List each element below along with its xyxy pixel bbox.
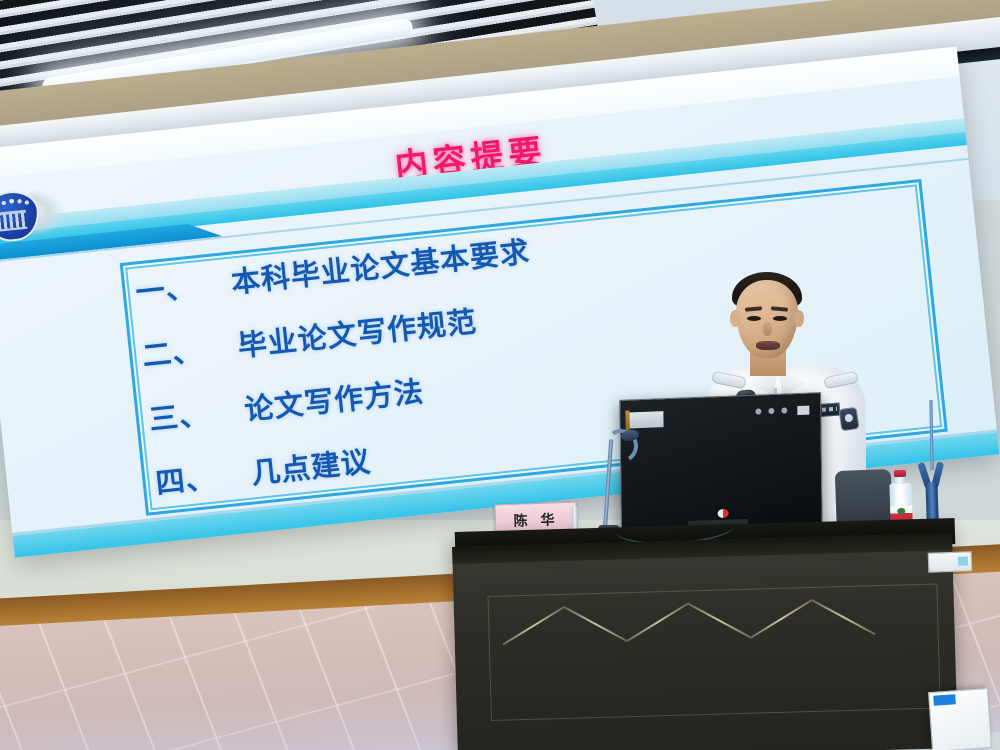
presenter-eye-left (747, 316, 761, 321)
list-item-number: 三、 (147, 387, 247, 439)
podium-chevron-inlay (502, 594, 904, 665)
name-plate-label: 陈 华 (513, 509, 559, 531)
list-item-number: 二、 (140, 323, 240, 375)
presenter-mouth (756, 341, 780, 350)
presenter-ear-left (730, 310, 740, 327)
document-tab (933, 694, 956, 706)
document-sheet (928, 688, 992, 750)
chevron-segment (563, 606, 627, 642)
water-bottle-cap (894, 470, 906, 477)
small-card (928, 551, 973, 573)
lecture-hall-screenshot: 内容提要 一、 本科毕业论文基本要求 二、 毕业论文写作规范 (0, 0, 1000, 750)
chevron-segment (811, 599, 875, 635)
monitor-buttons[interactable] (753, 403, 811, 417)
uniform-shoulder-patch (839, 407, 860, 431)
presenter-ear-right (794, 310, 804, 327)
chevron-segment (750, 599, 812, 638)
list-item-number: 四、 (153, 451, 253, 503)
podium (452, 533, 958, 750)
chevron-segment (687, 603, 751, 639)
chevron-segment (502, 606, 564, 645)
emblem-building (0, 210, 28, 232)
presenter-nose (763, 322, 772, 336)
police-academy-emblem (0, 185, 68, 245)
presenter-eye-right (773, 316, 787, 321)
chevron-segment (626, 603, 688, 642)
list-item-number: 一、 (133, 260, 233, 312)
